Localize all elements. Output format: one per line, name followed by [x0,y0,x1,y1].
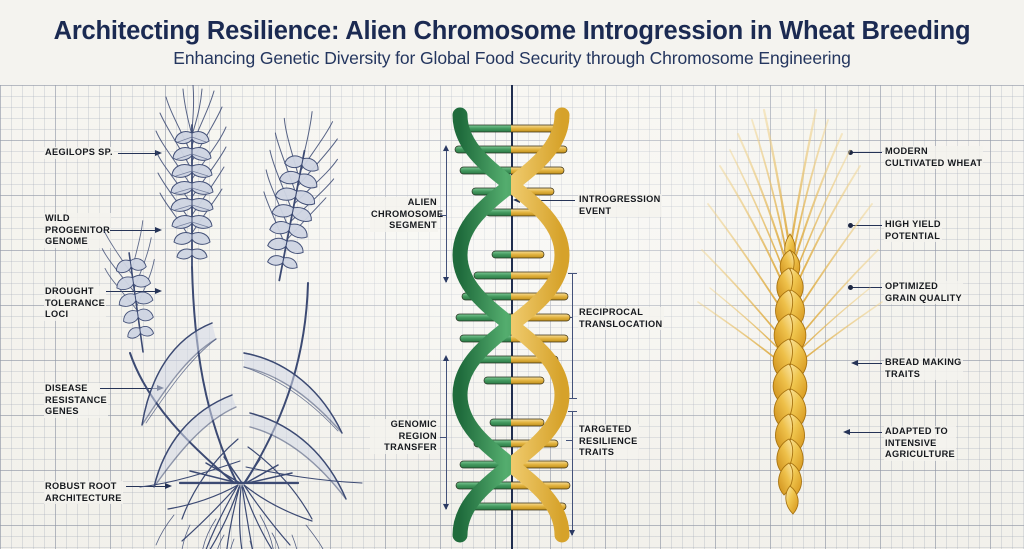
dna-helix-illustration [440,105,590,540]
modern-wheat-illustration [690,100,890,540]
label-disease-resistance-genes: DISEASE RESISTANCE GENES [44,383,108,418]
label-drought-tolerance-loci: DROUGHT TOLERANCE LOCI [44,286,106,321]
label-introgression-event: INTROGRESSION EVENT [578,194,662,217]
dna-helix-svg [440,105,590,540]
page-title: Architecting Resilience: Alien Chromosom… [54,17,971,46]
wheat-ear-svg [690,100,890,540]
label-robust-root-architecture: ROBUST ROOT ARCHITECTURE [44,481,123,504]
infographic-poster: Architecting Resilience: Alien Chromosom… [0,0,1024,549]
label-bread-making-traits: BREAD MAKING TRAITS [884,357,963,380]
poster-header: Architecting Resilience: Alien Chromosom… [0,0,1024,85]
label-modern-cultivated-wheat: MODERN CULTIVATED WHEAT [884,146,983,169]
label-reciprocal-translocation: RECIPROCAL TRANSLOCATION [578,307,664,330]
label-optimized-grain-quality: OPTIMIZED GRAIN QUALITY [884,281,963,304]
graph-paper-canvas: AEGILOPS SP. WILD PROGENITOR GENOME DROU… [0,85,1024,549]
label-wild-progenitor-genome: WILD PROGENITOR GENOME [44,213,111,248]
grain-cluster [773,234,807,514]
wild-relative-illustration [120,95,420,545]
label-aegilops-sp: AEGILOPS SP. [44,147,114,159]
page-subtitle: Enhancing Genetic Diversity for Global F… [173,48,850,69]
wheat-sketch-svg [120,95,420,545]
helix-strand-b [460,115,562,535]
label-adapted-to-intensive-agriculture: ADAPTED TO INTENSIVE AGRICULTURE [884,426,956,461]
label-high-yield-potential: HIGH YIELD POTENTIAL [884,219,942,242]
